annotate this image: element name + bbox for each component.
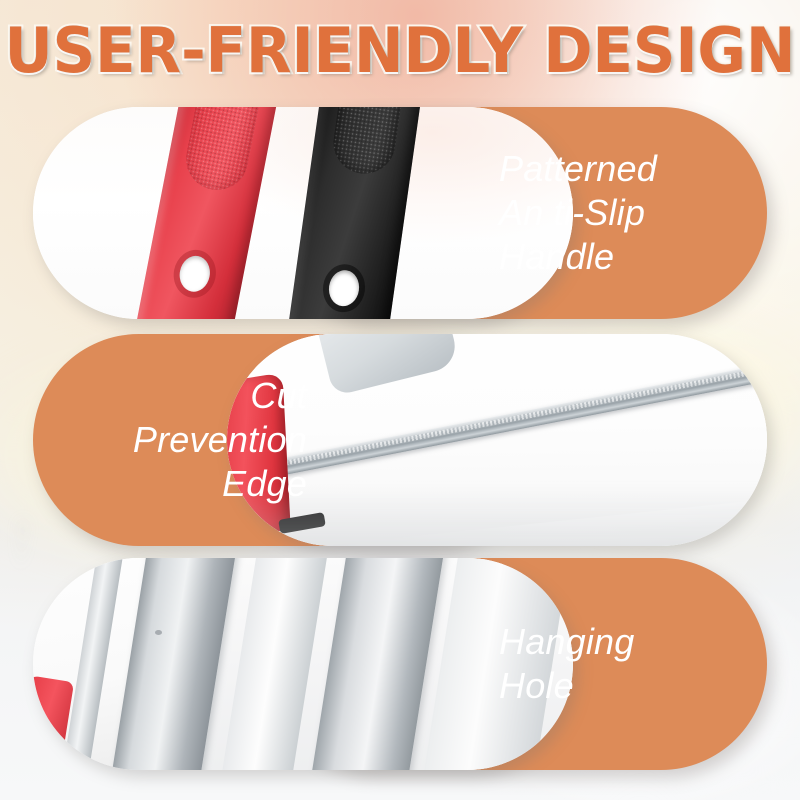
caption-line-2: Prevention [133, 418, 307, 462]
feature-row-patterned-anti-slip-handle: Patterned An ti-Slip Handle [33, 107, 767, 319]
feature-row-cut-prevention-edge: Cut Prevention Edge [33, 334, 767, 546]
caption-line-2: An ti-Slip [499, 191, 645, 235]
feature-photo-frame [33, 558, 573, 770]
feature-caption: Cut Prevention Edge [57, 334, 307, 546]
caption-line-2: Hole [499, 664, 574, 708]
feature-photo-frame [227, 334, 767, 546]
caption-line-1: Cut [250, 374, 307, 418]
caption-line-1: Patterned [499, 147, 657, 191]
steel-blades-photo [33, 558, 573, 770]
blade-edge-photo [227, 334, 767, 546]
caption-line-3: Handle [499, 235, 614, 279]
page-title: USER-FRIENDLY DESIGN [0, 16, 800, 86]
red-handle-illustration [131, 107, 282, 319]
caption-line-3: Edge [222, 462, 307, 506]
black-handle-hanging-hole [327, 268, 362, 308]
black-handle-grip-texture [329, 107, 407, 178]
red-handle-hanging-hole [177, 253, 213, 294]
feature-row-hanging-hole: Hanging Hole [33, 558, 767, 770]
feature-caption: Hanging Hole [499, 558, 729, 770]
photo-shadow-band [227, 486, 767, 546]
handles-photo [33, 107, 573, 319]
caption-line-1: Hanging [499, 620, 635, 664]
red-handle-grip-texture [181, 107, 265, 195]
feature-caption: Patterned An ti-Slip Handle [499, 107, 729, 319]
product-feature-poster: USER-FRIENDLY DESIGN Patterned An ti-Sli… [0, 0, 800, 800]
feature-photo-frame [33, 107, 573, 319]
surface-speck [155, 630, 162, 635]
black-handle-illustration [283, 107, 428, 319]
